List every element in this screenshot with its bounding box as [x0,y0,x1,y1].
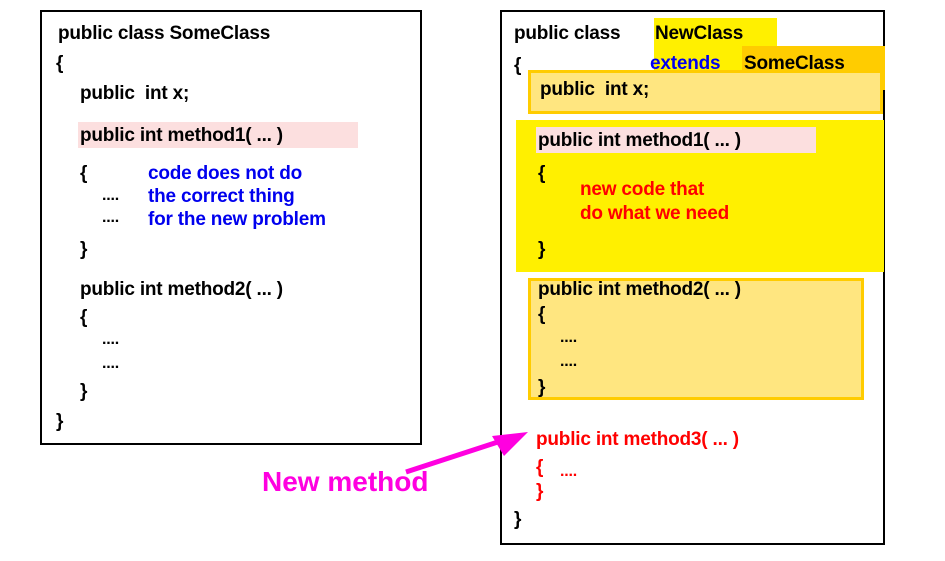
right-method2-body-dots-2: .... [560,352,577,371]
left-class-declaration: public class SomeClass [58,24,270,43]
diagram-canvas: public class SomeClass { public int x; p… [0,0,945,561]
right-method1-close-brace: } [538,240,545,259]
left-method1-body-dots-1: .... [102,186,119,205]
right-method2-open-brace: { [538,305,545,324]
right-method2-close-brace: } [538,378,545,397]
new-method-annotation-label: New method [262,466,428,498]
left-method2-close-brace: } [80,382,87,401]
right-extends-keyword: extends [650,54,720,73]
right-class-name: NewClass [655,24,743,43]
right-method2-body-dots-1: .... [560,328,577,347]
left-class-open-brace: { [56,54,63,73]
right-method1-signature: public int method1( ... ) [538,131,741,150]
right-extends-parent: SomeClass [744,54,845,73]
left-method1-signature: public int method1( ... ) [80,126,283,145]
left-class-close-brace: } [56,412,63,431]
right-method2-signature: public int method2( ... ) [538,280,741,299]
left-field-declaration: public int x; [80,84,189,103]
right-class-open-brace: { [514,56,521,75]
left-method1-body-dots-2: .... [102,208,119,227]
right-class-declaration-prefix: public class [514,24,625,43]
left-method2-body-dots-2: .... [102,354,119,373]
right-class-close-brace: } [514,510,521,529]
left-method1-close-brace: } [80,240,87,259]
right-field-declaration: public int x; [540,80,649,99]
right-new-code-line-1: new code that [580,180,704,199]
someclass-code-box: public class SomeClass { public int x; p… [40,10,422,445]
right-new-code-line-2: do what we need [580,204,729,223]
left-method2-body-dots-1: .... [102,330,119,349]
left-method2-signature: public int method2( ... ) [80,280,283,299]
newclass-code-box: public class NewClass { extends SomeClas… [500,10,885,545]
left-comment-line-3: for the new problem [148,210,326,229]
right-method3-open-brace: { [536,458,543,477]
left-method1-open-brace: { [80,164,87,183]
right-method1-open-brace: { [538,164,545,183]
right-method3-close-brace: } [536,482,543,501]
left-comment-line-1: code does not do [148,164,302,183]
right-method3-signature: public int method3( ... ) [536,430,739,449]
left-comment-line-2: the correct thing [148,187,295,206]
left-method2-open-brace: { [80,308,87,327]
right-method3-body-dots: .... [560,462,577,481]
